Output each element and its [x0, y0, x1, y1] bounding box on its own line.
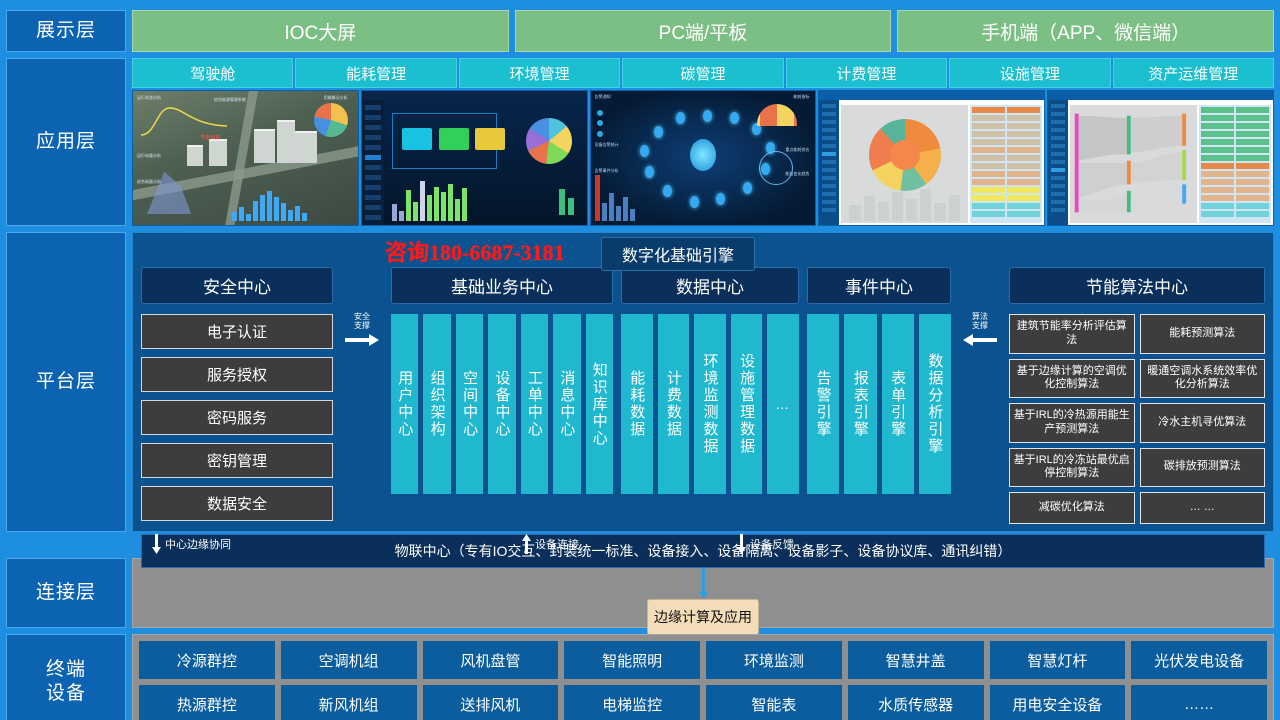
arrow-left-icon: [959, 334, 1001, 346]
connection-layer-label: 连接层: [6, 558, 126, 628]
tab-asset-ops[interactable]: 资产运维管理: [1113, 58, 1274, 88]
data-col-energy[interactable]: 能耗数据: [621, 314, 653, 494]
event-center-columns: 告警引擎 报表引擎 表单引擎 数据分析引擎: [807, 314, 951, 494]
arrow-down-icon: [152, 534, 161, 554]
algorithm-center-title: 节能算法中心: [1009, 267, 1265, 304]
contact-phone-number: 咨询180-6687-3181: [385, 235, 565, 267]
terminal-water-quality-sensor[interactable]: 水质传感器: [848, 685, 984, 720]
terminal-row-1: 冷源群控 空调机组 风机盘管 智能照明 环境监测 智慧井盖 智慧灯杆 光伏发电设…: [139, 641, 1267, 679]
business-col-org[interactable]: 组织架构: [423, 314, 450, 494]
presentation-card-pc[interactable]: PC端/平板: [515, 10, 892, 52]
sankey-chart: [1070, 105, 1196, 223]
mini-gauge-chart: [757, 104, 797, 126]
event-center-title: 事件中心: [807, 267, 951, 304]
mini-bar-chart: [232, 191, 307, 221]
algorithm-item-irl-source-forecast[interactable]: 基于IRL的冷热源用能生产预测算法: [1009, 403, 1135, 443]
algorithm-item-building-efficiency[interactable]: 建筑节能率分析评估算法: [1009, 314, 1135, 354]
layer-transition-arrows: 中心边缘协同 设备连接 设备反馈: [132, 534, 1274, 556]
digital-base-engine-chip: 数字化基础引擎: [601, 237, 755, 271]
mini-pie-chart: [526, 118, 572, 164]
tab-environment[interactable]: 环境管理: [459, 58, 620, 88]
algorithm-item-energy-forecast[interactable]: 能耗预测算法: [1140, 314, 1266, 354]
algorithm-item-more[interactable]: … …: [1140, 492, 1266, 524]
presentation-card-ioc[interactable]: IOC大屏: [132, 10, 509, 52]
tab-billing[interactable]: 计费管理: [786, 58, 947, 88]
transition-label: 中心边缘协同: [165, 536, 231, 552]
business-center: 基础业务中心 用户中心 组织架构 空间中心 设备中心 工单中心 消息中心 知识库…: [391, 267, 613, 494]
mini-bar-chart: [595, 175, 635, 221]
transition-label: 设备连接: [535, 536, 579, 552]
screenshot-energy-sankey[interactable]: [1047, 90, 1274, 226]
event-col-alarm[interactable]: 告警引擎: [807, 314, 839, 494]
platform-centers: 安全中心 电子认证 服务授权 密码服务 密钥管理 数据安全 安全 支撑: [141, 267, 1265, 524]
terminal-cards: 冷源群控 空调机组 风机盘管 智能照明 环境监测 智慧井盖 智慧灯杆 光伏发电设…: [132, 634, 1274, 720]
security-item-eauth[interactable]: 电子认证: [141, 314, 333, 349]
terminal-smart-lightpole[interactable]: 智慧灯杆: [990, 641, 1126, 679]
tab-carbon[interactable]: 碳管理: [622, 58, 783, 88]
terminal-fan-coil[interactable]: 风机盘管: [423, 641, 559, 679]
terminal-layer-label-text: 终端 设备: [46, 658, 86, 706]
event-col-report[interactable]: 报表引擎: [844, 314, 876, 494]
algorithm-center: 节能算法中心 建筑节能率分析评估算法 能耗预测算法 基于边缘计算的空调优化控制算…: [1009, 267, 1265, 524]
algorithm-item-chiller-optimize[interactable]: 冷水主机寻优算法: [1140, 403, 1266, 443]
screenshot-topology-monitor[interactable]: 告警通知 设备告警统计 告警事件分析 能耗指标 重点能耗排名 能效变化趋势: [590, 90, 817, 226]
application-tabs: 驾驶舱 能耗管理 环境管理 碳管理 计费管理 设施管理 资产运维管理: [132, 58, 1274, 88]
mini-data-table: [1199, 105, 1271, 223]
security-item-keymgmt[interactable]: 密钥管理: [141, 443, 333, 478]
tab-facility[interactable]: 设施管理: [949, 58, 1110, 88]
data-col-env[interactable]: 环境监测数据: [694, 314, 726, 494]
application-body: 驾驶舱 能耗管理 环境管理 碳管理 计费管理 设施管理 资产运维管理: [132, 58, 1274, 226]
business-col-workorder[interactable]: 工单中心: [521, 314, 548, 494]
application-layer-row: 应用层 驾驶舱 能耗管理 环境管理 碳管理 计费管理 设施管理 资产运维管理: [0, 58, 1280, 226]
data-col-more[interactable]: …: [767, 314, 799, 494]
application-layer-label: 应用层: [6, 58, 126, 226]
terminal-elevator-monitor[interactable]: 电梯监控: [564, 685, 700, 720]
algorithm-item-carbon-forecast[interactable]: 碳排放预测算法: [1140, 448, 1266, 488]
terminal-supply-exhaust-fan[interactable]: 送排风机: [423, 685, 559, 720]
presentation-layer-label: 展示层: [6, 10, 126, 52]
data-center-columns: 能耗数据 计费数据 环境监测数据 设施管理数据 …: [621, 314, 799, 494]
algorithm-item-edge-hvac-control[interactable]: 基于边缘计算的空调优化控制算法: [1009, 359, 1135, 399]
transition-label: 设备反馈: [750, 536, 794, 552]
terminal-pv-equipment[interactable]: 光伏发电设备: [1131, 641, 1267, 679]
algorithm-item-hvac-water-eff[interactable]: 暖通空调水系统效率优化分析算法: [1140, 359, 1266, 399]
algorithm-item-irl-station-startstop[interactable]: 基于IRL的冷冻站最优启停控制算法: [1009, 448, 1135, 488]
business-col-knowledge[interactable]: 知识库中心: [586, 314, 613, 494]
security-support-connector: 安全 支撑: [341, 267, 383, 524]
terminal-smart-meter[interactable]: 智能表: [706, 685, 842, 720]
screenshot-energy-board[interactable]: [361, 90, 588, 226]
algorithm-item-carbon-reduction[interactable]: 减碳优化算法: [1009, 492, 1135, 524]
data-center: 数据中心 能耗数据 计费数据 环境监测数据 设施管理数据 …: [621, 267, 799, 494]
arrow-down-icon: [737, 534, 746, 554]
security-center: 安全中心 电子认证 服务授权 密码服务 密钥管理 数据安全: [141, 267, 333, 521]
transition-device-connect: 设备连接: [522, 534, 579, 554]
business-col-space[interactable]: 空间中心: [456, 314, 483, 494]
event-center: 事件中心 告警引擎 报表引擎 表单引擎 数据分析引擎: [807, 267, 951, 494]
event-col-analysis[interactable]: 数据分析引擎: [919, 314, 951, 494]
business-col-message[interactable]: 消息中心: [553, 314, 580, 494]
algorithm-center-grid: 建筑节能率分析评估算法 能耗预测算法 基于边缘计算的空调优化控制算法 暖通空调水…: [1009, 314, 1265, 524]
connection-card-edge-computing[interactable]: 边缘计算及应用: [647, 599, 759, 635]
presentation-card-mobile[interactable]: 手机端（APP、微信端）: [897, 10, 1274, 52]
terminal-cold-source-control[interactable]: 冷源群控: [139, 641, 275, 679]
presentation-layer-row: 展示层 IOC大屏 PC端/平板 手机端（APP、微信端）: [0, 0, 1280, 52]
business-center-columns: 用户中心 组织架构 空间中心 设备中心 工单中心 消息中心 知识库中心: [391, 314, 613, 494]
security-center-list: 电子认证 服务授权 密码服务 密钥管理 数据安全: [141, 314, 333, 521]
algorithm-support-label-2: 支撑: [959, 322, 1001, 331]
security-item-datasec[interactable]: 数据安全: [141, 486, 333, 521]
data-col-billing[interactable]: 计费数据: [658, 314, 690, 494]
terminal-ahu[interactable]: 空调机组: [281, 641, 417, 679]
connection-layer-row: 连接层 边缘计算及应用 国际标准协议（BACnet/IP、KNX/IP、Modb…: [0, 558, 1280, 628]
terminal-layer-row: 终端 设备 冷源群控 空调机组 风机盘管 智能照明 环境监测 智慧井盖 智慧灯杆…: [0, 634, 1280, 720]
terminal-more[interactable]: ……: [1131, 685, 1267, 720]
terminal-heat-source-control[interactable]: 热源群控: [139, 685, 275, 720]
architecture-diagram: 展示层 IOC大屏 PC端/平板 手机端（APP、微信端） 应用层 驾驶舱 能耗…: [0, 0, 1280, 720]
mini-ring-chart: [759, 151, 793, 185]
sunburst-chart: [869, 119, 941, 191]
application-screenshots: 运行状态分析 运行电量分析 综合碳量分析 综合能源管理系统 用能概况分析 节能目…: [132, 90, 1274, 226]
security-support-label-2: 支撑: [341, 322, 383, 331]
screenshot-carbon-sunburst[interactable]: [818, 90, 1045, 226]
mini-data-table: [970, 105, 1042, 223]
terminal-layer-label: 终端 设备: [6, 634, 126, 720]
security-item-password[interactable]: 密码服务: [141, 400, 333, 435]
screenshot-3d-campus[interactable]: 运行状态分析 运行电量分析 综合碳量分析 综合能源管理系统 用能概况分析 节能目…: [132, 90, 359, 226]
platform-body: 咨询180-6687-3181 数字化基础引擎 安全中心 电子认证 服务授权 密…: [132, 232, 1274, 532]
terminal-electrical-safety[interactable]: 用电安全设备: [990, 685, 1126, 720]
event-col-form[interactable]: 表单引擎: [882, 314, 914, 494]
business-col-device[interactable]: 设备中心: [488, 314, 515, 494]
data-col-facility[interactable]: 设施管理数据: [731, 314, 763, 494]
business-col-user[interactable]: 用户中心: [391, 314, 418, 494]
arrow-right-icon: [341, 334, 383, 346]
terminal-row-2: 热源群控 新风机组 送排风机 电梯监控 智能表 水质传感器 用电安全设备 ……: [139, 685, 1267, 720]
terminal-smart-manhole[interactable]: 智慧井盖: [848, 641, 984, 679]
platform-layer-label: 平台层: [6, 232, 126, 532]
terminal-smart-lighting[interactable]: 智能照明: [564, 641, 700, 679]
transition-edge-collab: 中心边缘协同: [152, 534, 231, 554]
mini-pie-chart: [314, 103, 348, 137]
tab-energy[interactable]: 能耗管理: [295, 58, 456, 88]
mini-bar-chart: [392, 165, 467, 221]
business-center-title: 基础业务中心: [391, 267, 613, 304]
algorithm-support-connector: 算法 支撑: [959, 267, 1001, 524]
arrow-up-icon: [522, 534, 531, 554]
security-center-title: 安全中心: [141, 267, 333, 304]
terminal-fresh-air-unit[interactable]: 新风机组: [281, 685, 417, 720]
terminal-env-monitoring[interactable]: 环境监测: [706, 641, 842, 679]
transition-device-feedback: 设备反馈: [737, 534, 794, 554]
data-center-title: 数据中心: [621, 267, 799, 304]
platform-layer-row: 平台层 咨询180-6687-3181 数字化基础引擎 安全中心 电子认证 服务…: [0, 232, 1280, 532]
connection-cards: 边缘计算及应用 国际标准协议（BACnet/IP、KNX/IP、Modbus、O…: [132, 558, 1274, 628]
security-item-service[interactable]: 服务授权: [141, 357, 333, 392]
tab-cockpit[interactable]: 驾驶舱: [132, 58, 293, 88]
presentation-cards: IOC大屏 PC端/平板 手机端（APP、微信端）: [132, 10, 1274, 52]
